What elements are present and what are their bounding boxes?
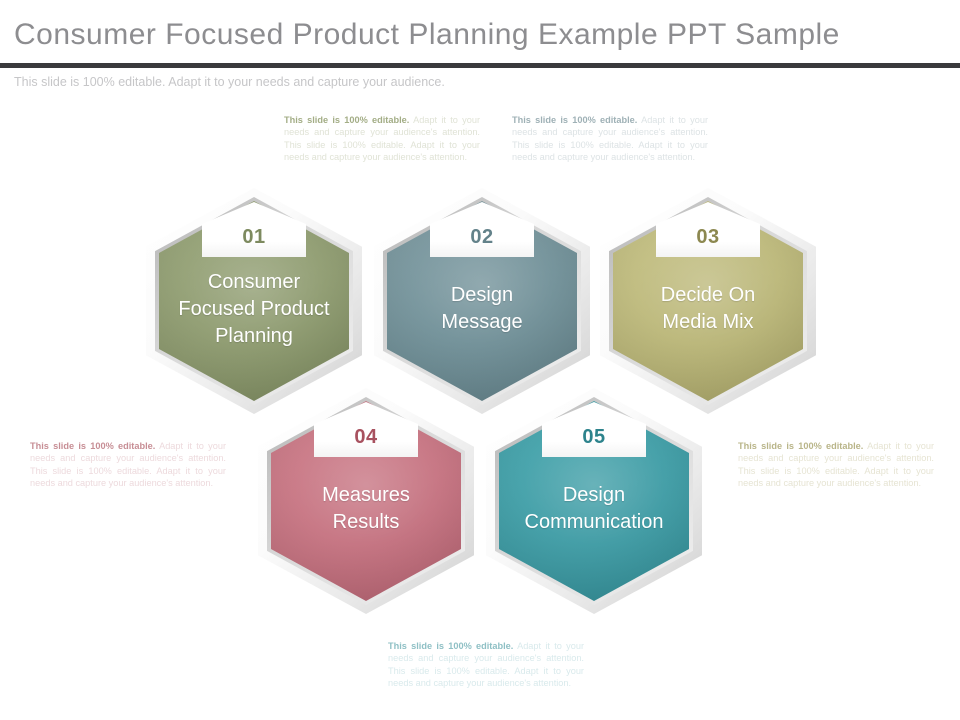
note-lead: This slide is 100% editable. — [738, 441, 863, 451]
hexagon-number: 03 — [696, 227, 719, 257]
note-block-05: This slide is 100% editable. Adapt it to… — [388, 640, 584, 690]
note-lead: This slide is 100% editable. — [512, 115, 637, 125]
hexagon-label: Design Communication — [517, 482, 672, 536]
note-block-02: This slide is 100% editable. Adapt it to… — [512, 114, 708, 164]
hexagon-number: 05 — [582, 427, 605, 457]
page-subtitle: This slide is 100% editable. Adapt it to… — [14, 75, 445, 89]
hexagon-label: Decide On Media Mix — [653, 282, 764, 336]
note-lead: This slide is 100% editable. — [30, 441, 155, 451]
hexagon-step-03[interactable]: Decide On Media Mix 03 — [600, 188, 816, 414]
hexagon-step-04[interactable]: Measures Results 04 — [258, 388, 474, 614]
title-divider — [0, 63, 960, 68]
note-lead: This slide is 100% editable. — [388, 641, 513, 651]
note-lead: This slide is 100% editable. — [284, 115, 409, 125]
hexagon-number: 01 — [242, 227, 265, 257]
note-block-03: This slide is 100% editable. Adapt it to… — [738, 440, 934, 490]
hexagon-label: Consumer Focused Product Planning — [170, 269, 337, 350]
hexagon-label: Measures Results — [314, 482, 418, 536]
hexagon-step-02[interactable]: Design Message 02 — [374, 188, 590, 414]
page-title: Consumer Focused Product Planning Exampl… — [14, 18, 840, 52]
note-block-04: This slide is 100% editable. Adapt it to… — [30, 440, 226, 490]
hexagon-step-05[interactable]: Design Communication 05 — [486, 388, 702, 614]
hexagon-step-01[interactable]: Consumer Focused Product Planning 01 — [146, 188, 362, 414]
hexagon-label: Design Message — [433, 282, 530, 336]
note-block-01: This slide is 100% editable. Adapt it to… — [284, 114, 480, 164]
hexagon-number: 04 — [354, 427, 377, 457]
hexagon-number: 02 — [470, 227, 493, 257]
